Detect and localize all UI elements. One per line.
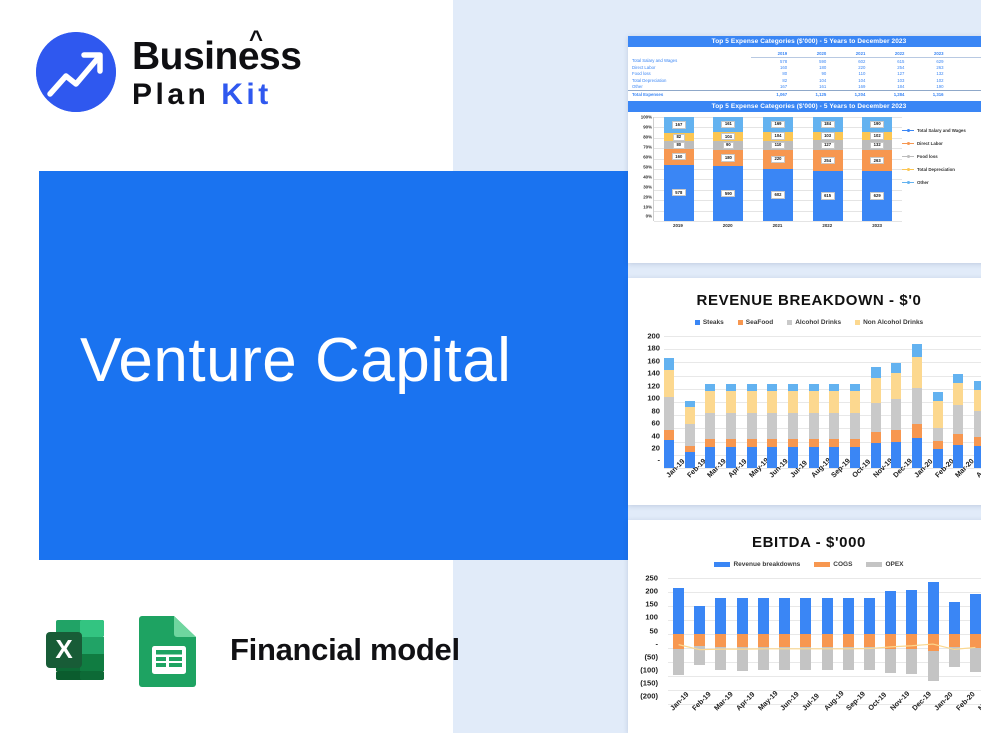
- y-tick: 150: [628, 601, 658, 609]
- cell: 615: [868, 58, 907, 65]
- stack-segment: [788, 447, 798, 468]
- stack-segment: [850, 439, 860, 447]
- stacked-bar: [891, 336, 901, 468]
- y-tick: (150): [628, 680, 658, 688]
- stacked-bar: [685, 336, 695, 468]
- cell: 578: [751, 58, 790, 65]
- stack-segment: [664, 440, 674, 468]
- x-tick: 2022: [812, 223, 842, 228]
- legend-marker: [902, 182, 914, 183]
- stack-segment: [809, 413, 819, 439]
- stacked-bar: [747, 336, 757, 468]
- y-tick: 10%: [630, 205, 652, 209]
- cell: 161: [790, 84, 829, 91]
- stacked-bar: [788, 336, 798, 468]
- cell: 169: [829, 84, 868, 91]
- stack-segment: [912, 438, 922, 468]
- stack-segment: 263: [862, 150, 892, 171]
- stack-segment: [974, 390, 981, 411]
- stack-segment: [891, 363, 901, 373]
- legend-item: COGS: [814, 561, 852, 568]
- y-tick: 120: [630, 382, 660, 390]
- stack-segment: [829, 447, 839, 468]
- legend-item: Revenue breakdowns: [714, 561, 800, 568]
- y-tick: 50%: [630, 165, 652, 169]
- stack-segment: [850, 391, 860, 413]
- stack-segment: 103: [813, 132, 843, 140]
- stack-segment: [747, 447, 757, 468]
- row-label: Total Salary and Wages: [628, 58, 751, 65]
- col-2021: 2021: [829, 48, 868, 58]
- format-badges: X Financial model: [38, 612, 460, 688]
- cell: 602: [829, 58, 868, 65]
- stack-segment: [767, 413, 777, 439]
- legend-swatch: [695, 320, 700, 325]
- stack-segment: 104: [763, 132, 793, 141]
- cell: 1,284: [868, 90, 907, 98]
- col-2020: 2020: [790, 48, 829, 58]
- expense-chart-legend: Total Salary and WagesDirect LaborFood l…: [902, 128, 981, 185]
- table-row: Other 167 161 169 184 190: [628, 84, 981, 91]
- segment-value-label: 263: [870, 157, 884, 164]
- stack-segment: [788, 439, 798, 447]
- legend-item: Non Alcohol Drinks: [855, 319, 923, 326]
- stack-segment: [767, 447, 777, 468]
- stack-segment: [871, 367, 881, 378]
- stacked-bar: [726, 336, 736, 468]
- stack-segment: [871, 443, 881, 468]
- col-2023: 2023: [907, 48, 946, 58]
- stack-segment: [829, 439, 839, 447]
- y-tick: 140: [630, 370, 660, 378]
- x-tick: 2023: [862, 223, 892, 228]
- stack-segment: [829, 391, 839, 413]
- stack-segment: [788, 413, 798, 439]
- y-tick: 70%: [630, 145, 652, 149]
- stack-segment: [912, 424, 922, 437]
- stack-segment: [664, 370, 674, 397]
- page-title: Venture Capital: [80, 325, 511, 396]
- stack-segment: [933, 428, 943, 441]
- legend-marker: [902, 156, 914, 157]
- stack-segment: [871, 403, 881, 433]
- stack-segment: [809, 447, 819, 468]
- x-tick: 2021: [762, 223, 792, 228]
- stacked-bar: [767, 336, 777, 468]
- legend-item: Food loss: [902, 154, 981, 159]
- ebitda-x-axis: Jan-19Feb-19Mar-19Apr-19May-19Jun-19Jul-…: [668, 706, 981, 715]
- legend-swatch: [738, 320, 743, 325]
- y-tick: 100: [628, 614, 658, 622]
- col-2022: 2022: [868, 48, 907, 58]
- row-label: Total Expenses: [628, 90, 751, 98]
- stack-segment: 132: [862, 140, 892, 150]
- cell: 184: [868, 84, 907, 91]
- stack-segment: 590: [713, 166, 743, 221]
- legend-label: Revenue breakdowns: [733, 561, 800, 568]
- stack-segment: [871, 432, 881, 443]
- stacked-bar: [912, 336, 922, 468]
- stack-segment: [705, 391, 715, 413]
- y-tick: (50): [628, 653, 658, 661]
- ebitda-chart-title: EBITDA - $'000: [628, 520, 981, 551]
- row-label: Other: [628, 84, 751, 91]
- segment-value-label: 169: [771, 121, 785, 128]
- table-total-row: Total Expenses 1,067 1,125 1,204 1,284 1…: [628, 90, 981, 98]
- y-tick: 40: [630, 432, 660, 440]
- stacked-bar: [829, 336, 839, 468]
- segment-value-label: 110: [771, 142, 785, 149]
- expense-table-title: Top 5 Expense Categories ($'000) - 5 Yea…: [628, 36, 981, 47]
- y-tick: 200: [630, 333, 660, 341]
- stack-segment: [850, 447, 860, 468]
- stack-segment: [685, 401, 695, 408]
- legend-marker: [902, 130, 914, 131]
- stacked-bar: 1678280160578: [664, 117, 694, 221]
- stacked-bar: 169104110220602: [763, 117, 793, 221]
- cell: 629: [907, 58, 946, 65]
- table-row: Total Salary and Wages 578 590 602 615 6…: [628, 58, 981, 65]
- segment-value-label: 161: [721, 121, 735, 128]
- expense-chart-plot: 1678280160578161104901805901691041102206…: [653, 117, 902, 221]
- stack-segment: 254: [813, 150, 843, 171]
- legend-swatch: [814, 562, 830, 567]
- stack-segment: [685, 424, 695, 446]
- cell: 190: [907, 84, 946, 91]
- y-tick: 80: [630, 407, 660, 415]
- legend-label: Food loss: [917, 154, 938, 159]
- revenue-plot: [664, 336, 981, 468]
- stack-segment: [747, 384, 757, 392]
- stacked-bar: 190102132263629: [862, 117, 892, 221]
- cell: 1,204: [829, 90, 868, 98]
- ebitda-plot: [668, 578, 981, 704]
- stack-segment: [726, 413, 736, 439]
- stack-segment: [891, 399, 901, 430]
- ebitda-plot-box: 25020015010050-(50)(100)(150)(200) Jan-1…: [628, 572, 981, 732]
- stack-segment: [829, 413, 839, 439]
- stack-segment: 90: [713, 141, 743, 149]
- segment-value-label: 254: [821, 157, 835, 164]
- stack-segment: 102: [862, 132, 892, 140]
- y-tick: (200): [628, 693, 658, 701]
- segment-value-label: 90: [723, 142, 735, 149]
- y-tick: 40%: [630, 175, 652, 179]
- legend-swatch: [866, 562, 882, 567]
- legend-label: Direct Labor: [917, 141, 943, 146]
- stack-segment: [664, 397, 674, 430]
- segment-value-label: 590: [721, 190, 735, 197]
- segment-value-label: 602: [771, 191, 785, 198]
- stack-segment: [953, 445, 963, 468]
- gridline: [654, 221, 902, 222]
- segment-value-label: 184: [821, 121, 835, 128]
- stack-segment: 160: [664, 149, 694, 165]
- stacked-bar: [850, 336, 860, 468]
- stack-segment: [705, 384, 715, 392]
- brand-word-business: Business: [132, 35, 301, 78]
- legend-marker: [902, 169, 914, 170]
- stack-segment: [953, 434, 963, 445]
- legend-item: Other: [902, 180, 981, 185]
- expense-chart-title: Top 5 Expense Categories ($'000) - 5 Yea…: [628, 101, 981, 112]
- brand-word-plan: Plan: [132, 78, 209, 111]
- stack-segment: [974, 437, 981, 446]
- stack-segment: 184: [813, 117, 843, 132]
- legend-item: Steaks: [695, 319, 724, 326]
- brand-name-line1: Business ^: [132, 37, 301, 76]
- legend-label: Other: [917, 180, 929, 185]
- stack-segment: [891, 430, 901, 441]
- stacked-bar: [809, 336, 819, 468]
- ebitda-card: EBITDA - $'000 Revenue breakdownsCOGSOPE…: [628, 520, 981, 733]
- brand-name-line2: Plan Kit: [132, 80, 301, 110]
- stack-segment: [747, 439, 757, 447]
- segment-value-label: 629: [870, 192, 884, 199]
- revenue-y-axis: 20018016014012010080604020-: [630, 336, 660, 468]
- stacked-bar: [871, 336, 881, 468]
- stacked-bar: [974, 336, 981, 468]
- cell: 1,125: [790, 90, 829, 98]
- stack-segment: [726, 447, 736, 468]
- segment-value-label: 220: [771, 156, 785, 163]
- stack-segment: [685, 452, 695, 469]
- stack-segment: [685, 407, 695, 424]
- segment-value-label: 103: [821, 132, 835, 139]
- stack-segment: [933, 401, 943, 427]
- y-tick: 250: [628, 575, 658, 583]
- legend-label: COGS: [833, 561, 852, 568]
- ebitda-chart-legend: Revenue breakdownsCOGSOPEX: [628, 551, 981, 572]
- legend-label: OPEX: [885, 561, 903, 568]
- stack-segment: 161: [713, 117, 743, 132]
- segment-value-label: 127: [821, 142, 835, 149]
- stack-segment: [871, 378, 881, 403]
- stack-segment: [850, 413, 860, 439]
- expense-chart-x-axis: 20192020202120222023: [653, 223, 902, 228]
- stack-segment: [747, 391, 757, 413]
- stack-segment: [829, 384, 839, 392]
- segment-value-label: 82: [673, 134, 685, 141]
- col-2019: 2019: [751, 48, 790, 58]
- segment-value-label: 160: [672, 153, 686, 160]
- legend-label: Steaks: [703, 319, 724, 326]
- stack-segment: [953, 374, 963, 383]
- stack-segment: 602: [763, 169, 793, 221]
- stack-segment: 169: [763, 117, 793, 132]
- y-tick: -: [628, 640, 658, 648]
- stack-segment: 80: [664, 141, 694, 149]
- revenue-breakdown-card: REVENUE BREAKDOWN - $'0 SteaksSeaFoodAlc…: [628, 278, 981, 505]
- legend-item: Total Salary and Wages: [902, 128, 981, 133]
- expense-chart-y-axis: 100%90%80%70%60%50%40%30%20%10%0%: [630, 117, 652, 221]
- stack-segment: 615: [813, 171, 843, 221]
- stack-segment: [891, 442, 901, 468]
- stack-segment: 167: [664, 117, 694, 133]
- revenue-x-axis: Jan-19Feb-19Mar-19Apr-19May-19Jun-19Jul-…: [664, 473, 981, 482]
- y-tick: 160: [630, 357, 660, 365]
- y-tick: 20%: [630, 195, 652, 199]
- stack-segment: 578: [664, 165, 694, 221]
- revenue-chart-title: REVENUE BREAKDOWN - $'0: [628, 278, 981, 309]
- brand-hat-accent: ^: [249, 28, 263, 52]
- stack-segment: 180: [713, 150, 743, 167]
- stack-segment: [664, 430, 674, 441]
- stack-segment: [974, 411, 981, 437]
- svg-text:X: X: [55, 634, 73, 664]
- y-tick: 200: [628, 588, 658, 596]
- x-tick: 2020: [713, 223, 743, 228]
- stack-segment: [705, 447, 715, 468]
- stack-segment: 190: [862, 117, 892, 132]
- stack-segment: [933, 449, 943, 468]
- google-sheets-icon: [136, 612, 202, 688]
- expense-table: 2019 2020 2021 2022 2023 Total Salary an…: [628, 48, 981, 98]
- stack-segment: 104: [713, 132, 743, 142]
- segment-value-label: 578: [672, 189, 686, 196]
- cell: 167: [751, 84, 790, 91]
- legend-label: Alcohol Drinks: [795, 319, 841, 326]
- segment-value-label: 104: [721, 133, 735, 140]
- segment-value-label: 80: [673, 142, 685, 149]
- format-badge-label: Financial model: [230, 632, 460, 668]
- stacked-bar: 16110490180590: [713, 117, 743, 221]
- ebitda-y-axis: 25020015010050-(50)(100)(150)(200): [628, 578, 658, 704]
- revenue-chart-legend: SteaksSeaFoodAlcohol DrinksNon Alcohol D…: [628, 309, 981, 330]
- stack-segment: [809, 384, 819, 392]
- stacked-bar: 184103127254615: [813, 117, 843, 221]
- microsoft-excel-icon: X: [38, 612, 114, 688]
- stack-segment: [726, 391, 736, 413]
- x-tick: 2019: [663, 223, 693, 228]
- stack-segment: [747, 413, 757, 439]
- y-tick: 100: [630, 395, 660, 403]
- stack-segment: [809, 391, 819, 413]
- stacked-bar: [705, 336, 715, 468]
- y-tick: 180: [630, 345, 660, 353]
- expense-categories-card: Top 5 Expense Categories ($'000) - 5 Yea…: [628, 36, 981, 263]
- legend-label: SeaFood: [746, 319, 773, 326]
- y-tick: (100): [628, 667, 658, 675]
- stack-segment: [809, 439, 819, 447]
- stack-segment: [705, 413, 715, 439]
- stack-segment: [767, 439, 777, 447]
- stack-segment: [912, 344, 922, 357]
- stack-segment: [974, 446, 981, 468]
- stack-segment: [767, 391, 777, 413]
- segment-value-label: 132: [870, 142, 884, 149]
- ebitda-trend-line: [668, 578, 981, 704]
- stack-segment: [788, 384, 798, 392]
- stack-segment: [933, 441, 943, 449]
- stack-segment: [767, 384, 777, 392]
- table-header-row: 2019 2020 2021 2022 2023: [628, 48, 981, 58]
- stack-segment: [953, 405, 963, 435]
- stack-segment: [953, 383, 963, 405]
- stack-segment: [891, 373, 901, 399]
- growth-arrow-icon: [36, 32, 116, 112]
- cell: 1,316: [907, 90, 946, 98]
- legend-item: Alcohol Drinks: [787, 319, 841, 326]
- y-tick: 60%: [630, 155, 652, 159]
- legend-item: OPEX: [866, 561, 903, 568]
- stack-segment: [974, 381, 981, 390]
- segment-value-label: 615: [821, 192, 835, 199]
- segment-value-label: 102: [870, 132, 884, 139]
- legend-marker: [902, 143, 914, 144]
- y-tick: 20: [630, 444, 660, 452]
- y-tick: 90%: [630, 125, 652, 129]
- cell: 1,067: [751, 90, 790, 98]
- legend-label: Total Salary and Wages: [917, 128, 966, 133]
- segment-value-label: 180: [721, 154, 735, 161]
- stack-segment: 110: [763, 141, 793, 150]
- y-tick: 80%: [630, 135, 652, 139]
- segment-value-label: 190: [870, 121, 884, 128]
- stacked-bar: [933, 336, 943, 468]
- y-tick: 0%: [630, 215, 652, 219]
- stack-segment: 82: [664, 133, 694, 141]
- cell: 590: [790, 58, 829, 65]
- legend-swatch: [787, 320, 792, 325]
- stack-segment: 629: [862, 171, 892, 221]
- stack-segment: [933, 392, 943, 401]
- y-tick: 30%: [630, 185, 652, 189]
- segment-value-label: 167: [672, 121, 686, 128]
- revenue-plot-box: 20018016014012010080604020- Jan-19Feb-19…: [628, 330, 981, 502]
- y-tick: 100%: [630, 115, 652, 119]
- stacked-bar: [664, 336, 674, 468]
- y-tick: 50: [628, 627, 658, 635]
- legend-label: Non Alcohol Drinks: [863, 319, 923, 326]
- stack-segment: [912, 388, 922, 424]
- legend-item: SeaFood: [738, 319, 773, 326]
- y-tick: 60: [630, 420, 660, 428]
- legend-swatch: [714, 562, 730, 567]
- legend-swatch: [855, 320, 860, 325]
- segment-value-label: 104: [771, 132, 785, 139]
- stack-segment: [788, 391, 798, 413]
- stack-segment: [726, 439, 736, 447]
- y-tick: -: [630, 457, 660, 465]
- stack-segment: [705, 439, 715, 447]
- brand-logo: Business ^ Plan Kit: [36, 32, 301, 112]
- stacked-bar: [953, 336, 963, 468]
- stack-segment: [664, 358, 674, 369]
- stack-segment: [912, 357, 922, 388]
- brand-word-kit: Kit: [221, 78, 272, 111]
- stack-segment: [726, 384, 736, 392]
- stack-segment: 220: [763, 150, 793, 169]
- legend-label: Total Depreciation: [917, 167, 955, 172]
- expense-stacked-chart: 100%90%80%70%60%50%40%30%20%10%0% 167828…: [628, 112, 981, 238]
- legend-item: Total Depreciation: [902, 167, 981, 172]
- stack-segment: [850, 384, 860, 392]
- stack-segment: 127: [813, 140, 843, 150]
- legend-item: Direct Labor: [902, 141, 981, 146]
